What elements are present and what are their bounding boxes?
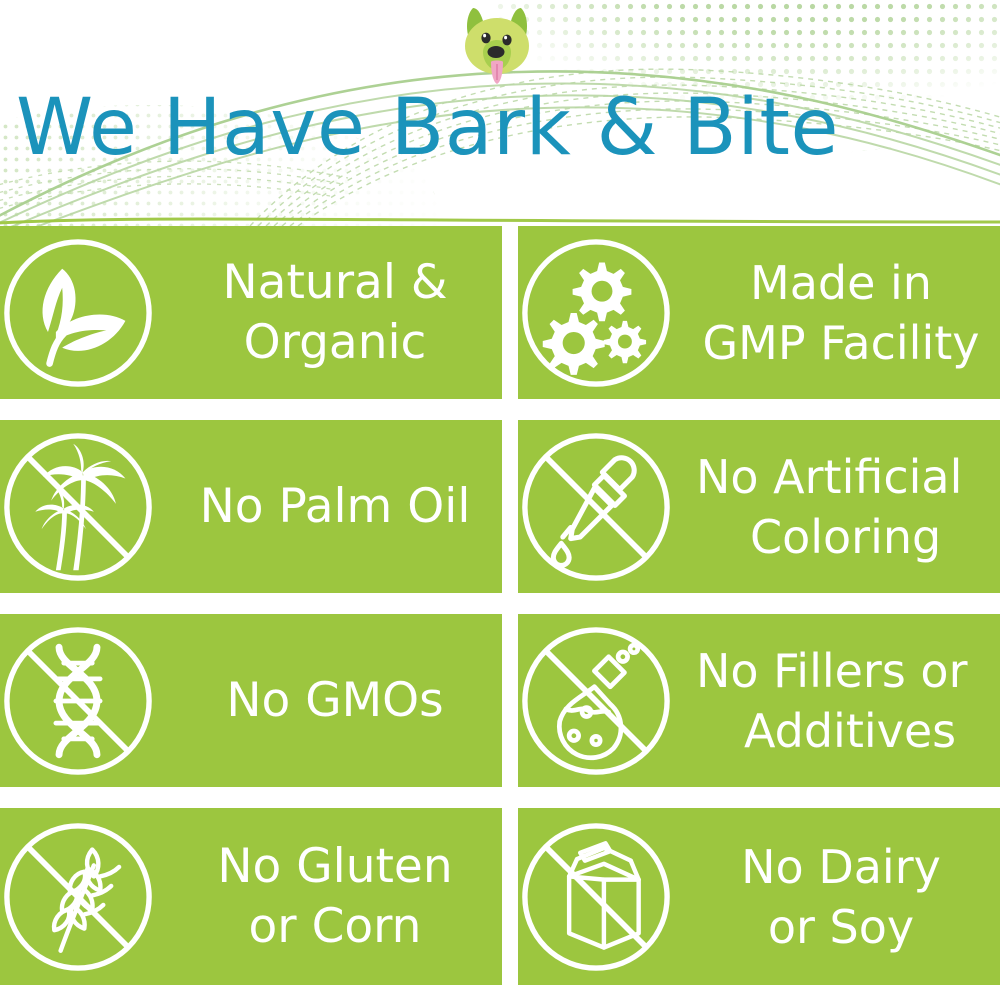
wheat-icon bbox=[0, 811, 164, 983]
badge-label: No Artificial Coloring bbox=[682, 447, 1000, 567]
gears-icon bbox=[518, 227, 682, 399]
badge-gmp-facility[interactable]: Made in GMP Facility bbox=[518, 226, 1000, 399]
header: We Have Bark & Bite bbox=[0, 0, 1000, 226]
badge-grid: Natural & Organic bbox=[0, 226, 1000, 1000]
flask-icon bbox=[518, 615, 682, 787]
page-title: We Have Bark & Bite bbox=[16, 86, 1000, 170]
badge-no-gmos[interactable]: No GMOs bbox=[0, 614, 502, 787]
dropper-icon bbox=[518, 421, 682, 593]
badge-label: No Fillers or Additives bbox=[682, 641, 1000, 761]
leaf-icon bbox=[0, 227, 164, 399]
badge-label: Made in GMP Facility bbox=[682, 253, 1000, 373]
infographic-page: We Have Bark & Bite Natural & Organic bbox=[0, 0, 1000, 1000]
badge-no-gluten-corn[interactable]: No Gluten or Corn bbox=[0, 808, 502, 985]
dna-helix-icon bbox=[0, 615, 164, 787]
badge-label: Natural & Organic bbox=[164, 253, 502, 373]
badge-no-palm-oil[interactable]: No Palm Oil bbox=[0, 420, 502, 593]
milk-carton-icon bbox=[518, 811, 682, 983]
badge-label: No Palm Oil bbox=[164, 477, 502, 537]
badge-no-dairy-soy[interactable]: No Dairy or Soy bbox=[518, 808, 1000, 985]
badge-label: No Dairy or Soy bbox=[682, 837, 1000, 957]
badge-natural-organic[interactable]: Natural & Organic bbox=[0, 226, 502, 399]
badge-label: No Gluten or Corn bbox=[164, 837, 502, 957]
badge-no-artificial-coloring[interactable]: No Artificial Coloring bbox=[518, 420, 1000, 593]
dog-mascot-icon bbox=[443, 2, 551, 94]
badge-label: No GMOs bbox=[164, 671, 502, 731]
badge-no-fillers-additives[interactable]: No Fillers or Additives bbox=[518, 614, 1000, 787]
palm-tree-icon bbox=[0, 421, 164, 593]
